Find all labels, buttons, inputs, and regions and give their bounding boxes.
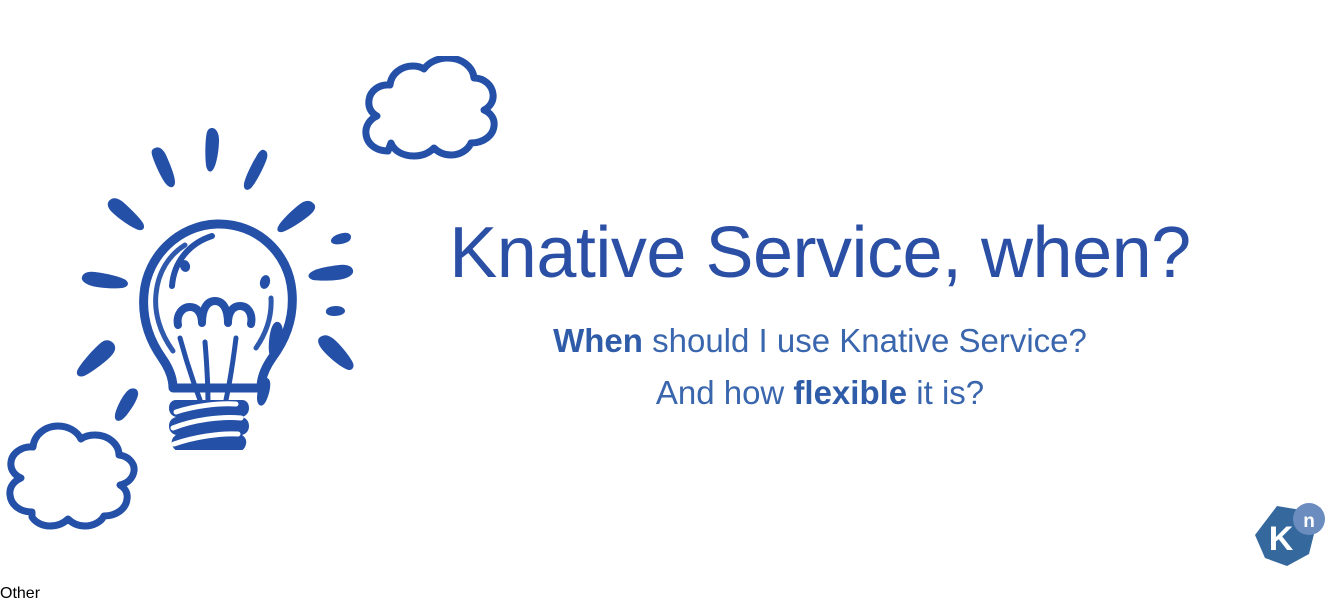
lightbulb-icon <box>60 110 370 450</box>
knative-logo: K n <box>1247 500 1331 576</box>
page-title: Knative Service, when? <box>420 215 1220 293</box>
knative-letter-k: K <box>1269 520 1294 558</box>
subtitle-line-1-bold: When <box>553 322 643 359</box>
title-text-block: Knative Service, when? When should I use… <box>420 215 1220 419</box>
subtitle-line-2: And how flexible it is? <box>420 367 1220 419</box>
subtitle-line-1: When should I use Knative Service? <box>420 315 1220 367</box>
subtitle-line-2-suffix: it is? <box>907 374 984 411</box>
subtitle-block: When should I use Knative Service? And h… <box>420 315 1220 419</box>
slide-canvas: Knative Service, when? When should I use… <box>0 0 1341 585</box>
cloud-icon <box>344 56 504 171</box>
subtitle-line-1-rest: should I use Knative Service? <box>643 322 1087 359</box>
knative-letter-n: n <box>1303 511 1315 532</box>
subtitle-line-2-bold: flexible <box>793 374 907 411</box>
subtitle-line-2-prefix: And how <box>656 374 794 411</box>
cloud-icon <box>0 418 144 530</box>
